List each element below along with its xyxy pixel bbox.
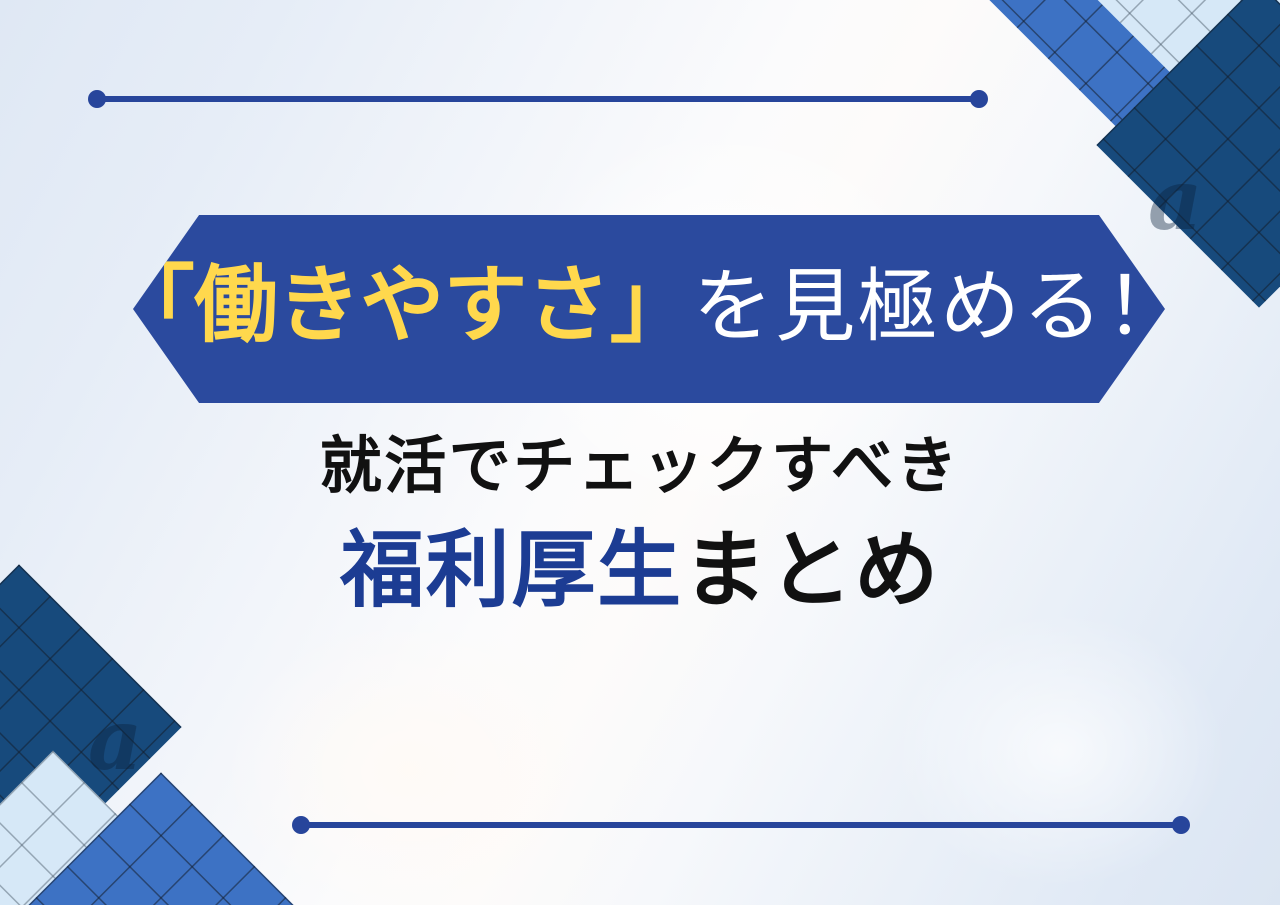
divider-dot-right — [1172, 816, 1190, 834]
divider-rule-top — [88, 88, 988, 110]
divider-bar — [307, 822, 1175, 828]
subtitle-block: 就活でチェックすべき 福利厚生まとめ — [0, 432, 1280, 617]
divider-rule-bottom — [292, 814, 1190, 836]
divider-dot-right — [970, 90, 988, 108]
headline-banner: 「働きやすさ」を見極める！ — [133, 215, 1165, 403]
poster-canvas: a a 「働きやすさ」を見極める！ 就活でチェックすべき 福利厚生まとめ — [0, 0, 1280, 905]
subtitle-accent-term: 福利厚生 — [340, 521, 683, 619]
headline-highlight: 「働きやすさ」 — [111, 256, 693, 354]
divider-bar — [103, 96, 973, 102]
subtitle-trailing-term: まとめ — [683, 521, 940, 619]
subtitle-line-1: 就活でチェックすべき — [0, 432, 1280, 500]
headline-rest: を見極める！ — [693, 260, 1187, 353]
subtitle-line-2: 福利厚生まとめ — [0, 524, 1280, 616]
headline-banner-text: 「働きやすさ」を見極める！ — [111, 263, 1188, 347]
